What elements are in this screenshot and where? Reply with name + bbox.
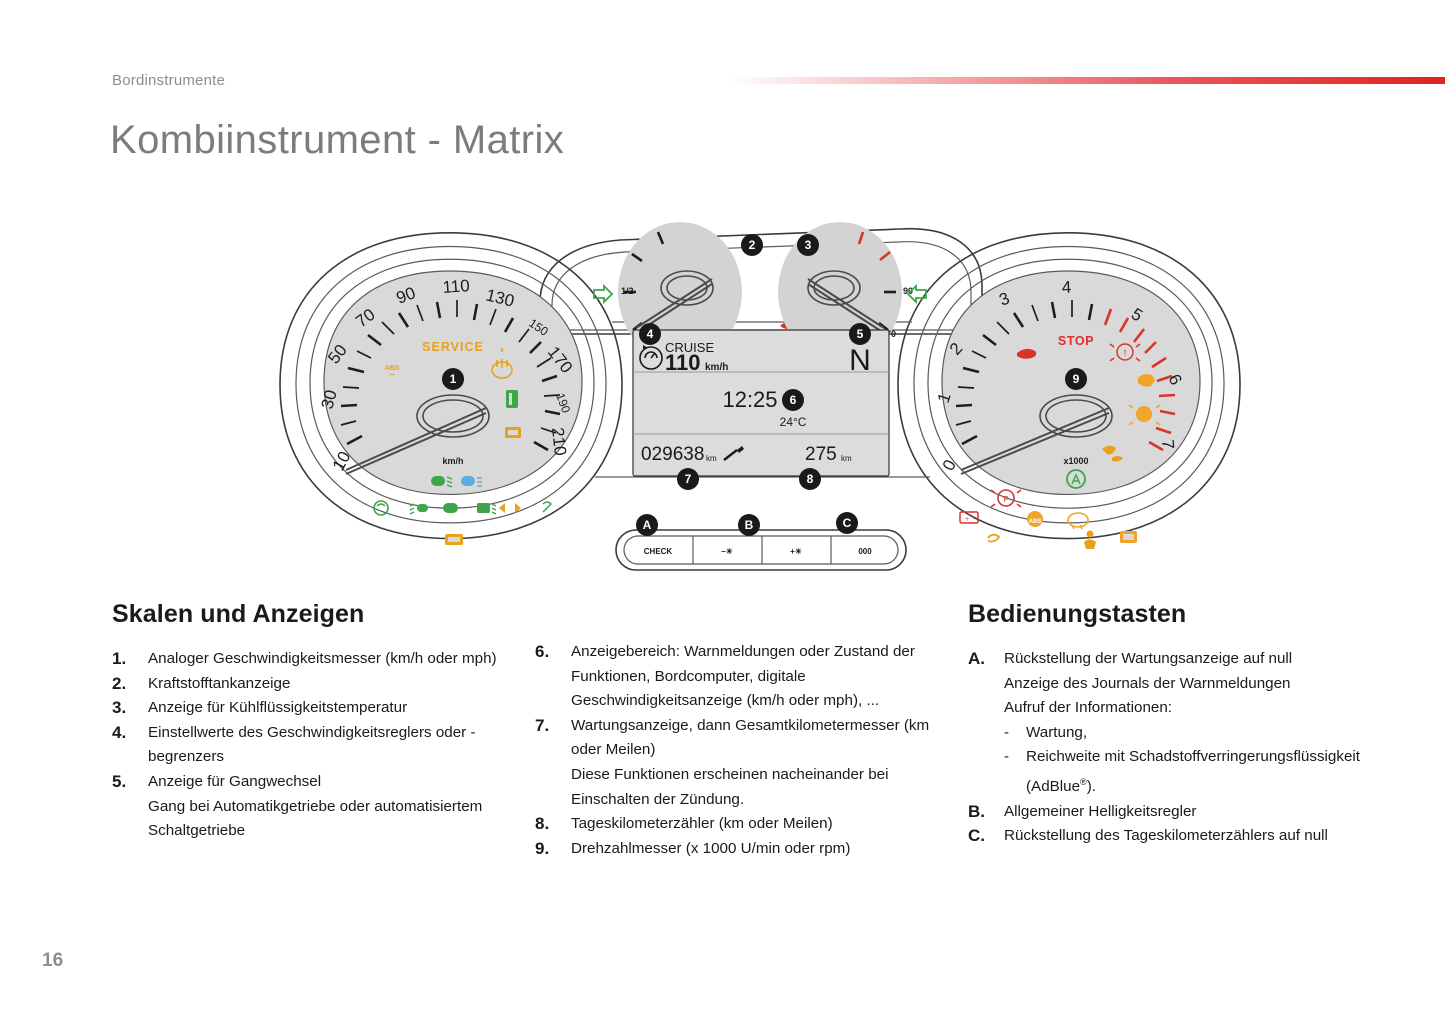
- list-item-number: 2.: [112, 672, 148, 697]
- callout-B-label: B: [745, 518, 754, 532]
- sub-list-item: -Reichweite mit Schadstoffverringerungsf…: [1004, 745, 1388, 799]
- list-item-number: A.: [968, 647, 1004, 800]
- gear-indicator: N: [849, 344, 871, 377]
- list-item-text: Wartungsanzeige, dann Gesamtkilometermes…: [571, 714, 945, 812]
- odometer-unit: km: [706, 454, 717, 463]
- scales-list-continued: 6.Anzeigebereich: Warnmeldungen oder Zus…: [535, 640, 945, 861]
- column-control-buttons: Bedienungstasten A.Rückstellung der Wart…: [968, 600, 1388, 849]
- sub-list-dash: -: [1004, 721, 1026, 746]
- callout-2-label: 2: [749, 238, 756, 252]
- svg-text:-: -: [973, 516, 976, 523]
- list-item: 5.Anzeige für GangwechselGang bei Automa…: [112, 770, 522, 844]
- svg-text:P: P: [1003, 495, 1008, 504]
- list-item-line: Analoger Geschwindigkeitsmesser (km/h od…: [148, 647, 522, 672]
- list-item-number: B.: [968, 800, 1004, 825]
- list-item-line: Anzeige des Journals der Warnmeldungen: [1004, 672, 1388, 697]
- door-tacho-icon: [1120, 531, 1137, 543]
- callout-8-label: 8: [807, 472, 814, 486]
- list-item: 4.Einstellwerte des Geschwindigkeitsregl…: [112, 721, 522, 770]
- callout-6-label: 6: [790, 393, 797, 407]
- callout-5-label: 5: [857, 327, 864, 341]
- sub-list-text: Wartung,: [1026, 721, 1388, 746]
- glowplug-tacho-icon: [988, 535, 999, 542]
- speed-unit-label: km/h: [442, 456, 463, 466]
- list-item-number: 7.: [535, 714, 571, 812]
- child-seat-icon: [1084, 531, 1096, 550]
- list-item: B.Allgemeiner Helligkeitsregler: [968, 800, 1388, 825]
- tacho-tick-4: 4: [1061, 278, 1071, 297]
- glowplug-icon: [543, 502, 551, 512]
- page-number: 16: [42, 950, 63, 972]
- service-text: SERVICE: [422, 340, 484, 354]
- list-item-line: Aufruf der Informationen:: [1004, 696, 1388, 721]
- callout-C-label: C: [843, 516, 852, 530]
- abs-tacho-icon: ABS: [1027, 511, 1043, 527]
- callout-4-label: 4: [647, 327, 654, 341]
- speed-tick-110: 110: [442, 276, 470, 297]
- list-item-line: Rückstellung des Tageskilometerzählers a…: [1004, 824, 1388, 849]
- button-dim-down-label: –☀: [721, 547, 733, 556]
- header-rule: [730, 77, 1445, 84]
- foglight-rear-icon: [477, 503, 496, 514]
- list-item-text: Einstellwerte des Geschwindigkeitsregler…: [148, 721, 522, 770]
- list-item-line: Rückstellung der Wartungsanzeige auf nul…: [1004, 647, 1388, 672]
- list-item-line: Wartungsanzeige, dann Gesamtkilometermes…: [571, 714, 945, 763]
- outside-temperature: 24°C: [780, 415, 807, 429]
- list-item-line: Einstellwerte des Geschwindigkeitsregler…: [148, 721, 522, 770]
- list-item-text: Tageskilometerzähler (km oder Meilen): [571, 812, 945, 837]
- registered-mark: ®: [1080, 777, 1087, 787]
- list-item-line: Gang bei Automatikgetriebe oder automati…: [148, 795, 522, 844]
- callout-1-label: 1: [450, 372, 457, 386]
- list-item-number: 1.: [112, 647, 148, 672]
- section-heading-buttons: Bedienungstasten: [968, 600, 1388, 629]
- tyre-pressure-tacho-icon: [1068, 513, 1088, 529]
- trip-meter: 275: [805, 444, 837, 465]
- list-item-text: Analoger Geschwindigkeitsmesser (km/h od…: [148, 647, 522, 672]
- list-item-text: Rückstellung des Tageskilometerzählers a…: [1004, 824, 1388, 849]
- svg-text:+: +: [965, 516, 969, 523]
- turn-signal-left-icon: [594, 286, 612, 302]
- page-title: Kombiinstrument - Matrix: [110, 118, 564, 163]
- list-item-text: Kraftstofftankanzeige: [148, 672, 522, 697]
- list-item-line: Drehzahlmesser (x 1000 U/min oder rpm): [571, 837, 945, 862]
- list-item-number: 5.: [112, 770, 148, 844]
- button-bar: CHECK –☀ +☀ 000 A B C: [616, 512, 906, 570]
- foglight-front-icon: [410, 504, 428, 514]
- svg-text:ABS: ABS: [1029, 519, 1042, 525]
- list-item: 2.Kraftstofftankanzeige: [112, 672, 522, 697]
- stop-text: STOP: [1058, 334, 1094, 348]
- lcd-display: CRUISE 110 km/h N 12:25 24°C 029638 km 2…: [633, 323, 889, 490]
- list-item: C.Rückstellung des Tageskilometerzählers…: [968, 824, 1388, 849]
- list-item-text: Rückstellung der Wartungsanzeige auf nul…: [1004, 647, 1388, 800]
- tacho-tick-7: 7: [1158, 439, 1178, 450]
- list-item-text: Allgemeiner Helligkeitsregler: [1004, 800, 1388, 825]
- list-item-line: Diese Funktionen erscheinen nacheinander…: [571, 763, 945, 812]
- list-item-number: 8.: [535, 812, 571, 837]
- callout-7-label: 7: [685, 472, 692, 486]
- svg-text:!: !: [1124, 348, 1127, 358]
- list-item: A.Rückstellung der Wartungsanzeige auf n…: [968, 647, 1388, 800]
- sub-list-text: Reichweite mit Schadstoffverringerungsfl…: [1026, 745, 1388, 799]
- button-dim-up-label: +☀: [790, 547, 802, 556]
- list-item: 3.Anzeige für Kühlflüssigkeitstemperatur: [112, 696, 522, 721]
- list-item-text: Anzeigebereich: Warnmeldungen oder Zusta…: [571, 640, 945, 714]
- list-item-text: Anzeige für Kühlflüssigkeitstemperatur: [148, 696, 522, 721]
- list-item-line: Tageskilometerzähler (km oder Meilen): [571, 812, 945, 837]
- door-open-icon: [505, 427, 521, 438]
- cruise-speed: 110: [665, 350, 701, 375]
- list-item-line: Allgemeiner Helligkeitsregler: [1004, 800, 1388, 825]
- parking-brake-icon: P: [991, 490, 1021, 507]
- list-item: 9.Drehzahlmesser (x 1000 U/min oder rpm): [535, 837, 945, 862]
- esp-icon: [374, 501, 388, 515]
- list-item: 1.Analoger Geschwindigkeitsmesser (km/h …: [112, 647, 522, 672]
- clock: 12:25: [722, 387, 777, 412]
- scales-list: 1.Analoger Geschwindigkeitsmesser (km/h …: [112, 647, 522, 844]
- manual-page: Bordinstrumente Kombiinstrument - Matrix…: [0, 0, 1445, 1026]
- list-item: 7.Wartungsanzeige, dann Gesamtkilometerm…: [535, 714, 945, 812]
- list-item-line: Anzeige für Kühlflüssigkeitstemperatur: [148, 696, 522, 721]
- rear-defrost-icon: [445, 534, 463, 545]
- svg-text:1/2: 1/2: [621, 286, 634, 296]
- list-item-number: 3.: [112, 696, 148, 721]
- seatbelt-icon: [506, 390, 518, 408]
- callout-3-label: 3: [805, 238, 812, 252]
- list-item-line: Anzeige für Gangwechsel: [148, 770, 522, 795]
- svg-text:▪▪▪: ▪▪▪: [389, 372, 395, 378]
- odometer: 029638: [641, 444, 704, 465]
- list-item-text: Anzeige für GangwechselGang bei Automati…: [148, 770, 522, 844]
- svg-text:ABS: ABS: [385, 365, 400, 372]
- list-item-line: Kraftstofftankanzeige: [148, 672, 522, 697]
- section-heading-scales: Skalen und Anzeigen: [112, 600, 522, 629]
- list-item: 6.Anzeigebereich: Warnmeldungen oder Zus…: [535, 640, 945, 714]
- list-item-number: 4.: [112, 721, 148, 770]
- tacho-unit-label: x1000: [1063, 456, 1088, 466]
- callout-A-label: A: [643, 518, 652, 532]
- sidelight-icon: [443, 503, 458, 513]
- speed-tick-210: 210: [548, 426, 570, 456]
- lowbeam-icon: [431, 476, 452, 487]
- buttons-list: A.Rückstellung der Wartungsanzeige auf n…: [968, 647, 1388, 849]
- breadcrumb: Bordinstrumente: [112, 72, 225, 89]
- trip-unit: km: [841, 454, 852, 463]
- column-scales-and-displays: Skalen und Anzeigen 1.Analoger Geschwind…: [112, 600, 522, 844]
- button-trip-reset-label: 000: [858, 547, 872, 556]
- cruise-unit: km/h: [705, 362, 728, 373]
- sub-list-dash: -: [1004, 745, 1026, 799]
- list-item-number: 6.: [535, 640, 571, 714]
- list-item-text: Drehzahlmesser (x 1000 U/min oder rpm): [571, 837, 945, 862]
- list-item: 8.Tageskilometerzähler (km oder Meilen): [535, 812, 945, 837]
- list-item-number: C.: [968, 824, 1004, 849]
- column-scales-continued: 6.Anzeigebereich: Warnmeldungen oder Zus…: [535, 640, 945, 861]
- list-item-line: Anzeigebereich: Warnmeldungen oder Zusta…: [571, 640, 945, 714]
- instrument-cluster-figure: .ol { fill:none; stroke:#3b3b3b; stroke-…: [240, 182, 1280, 582]
- battery-icon: +-: [960, 512, 978, 523]
- sub-list-item: -Wartung,: [1004, 721, 1388, 746]
- callout-9-label: 9: [1073, 372, 1080, 386]
- list-item-number: 9.: [535, 837, 571, 862]
- button-check-label: CHECK: [644, 547, 673, 556]
